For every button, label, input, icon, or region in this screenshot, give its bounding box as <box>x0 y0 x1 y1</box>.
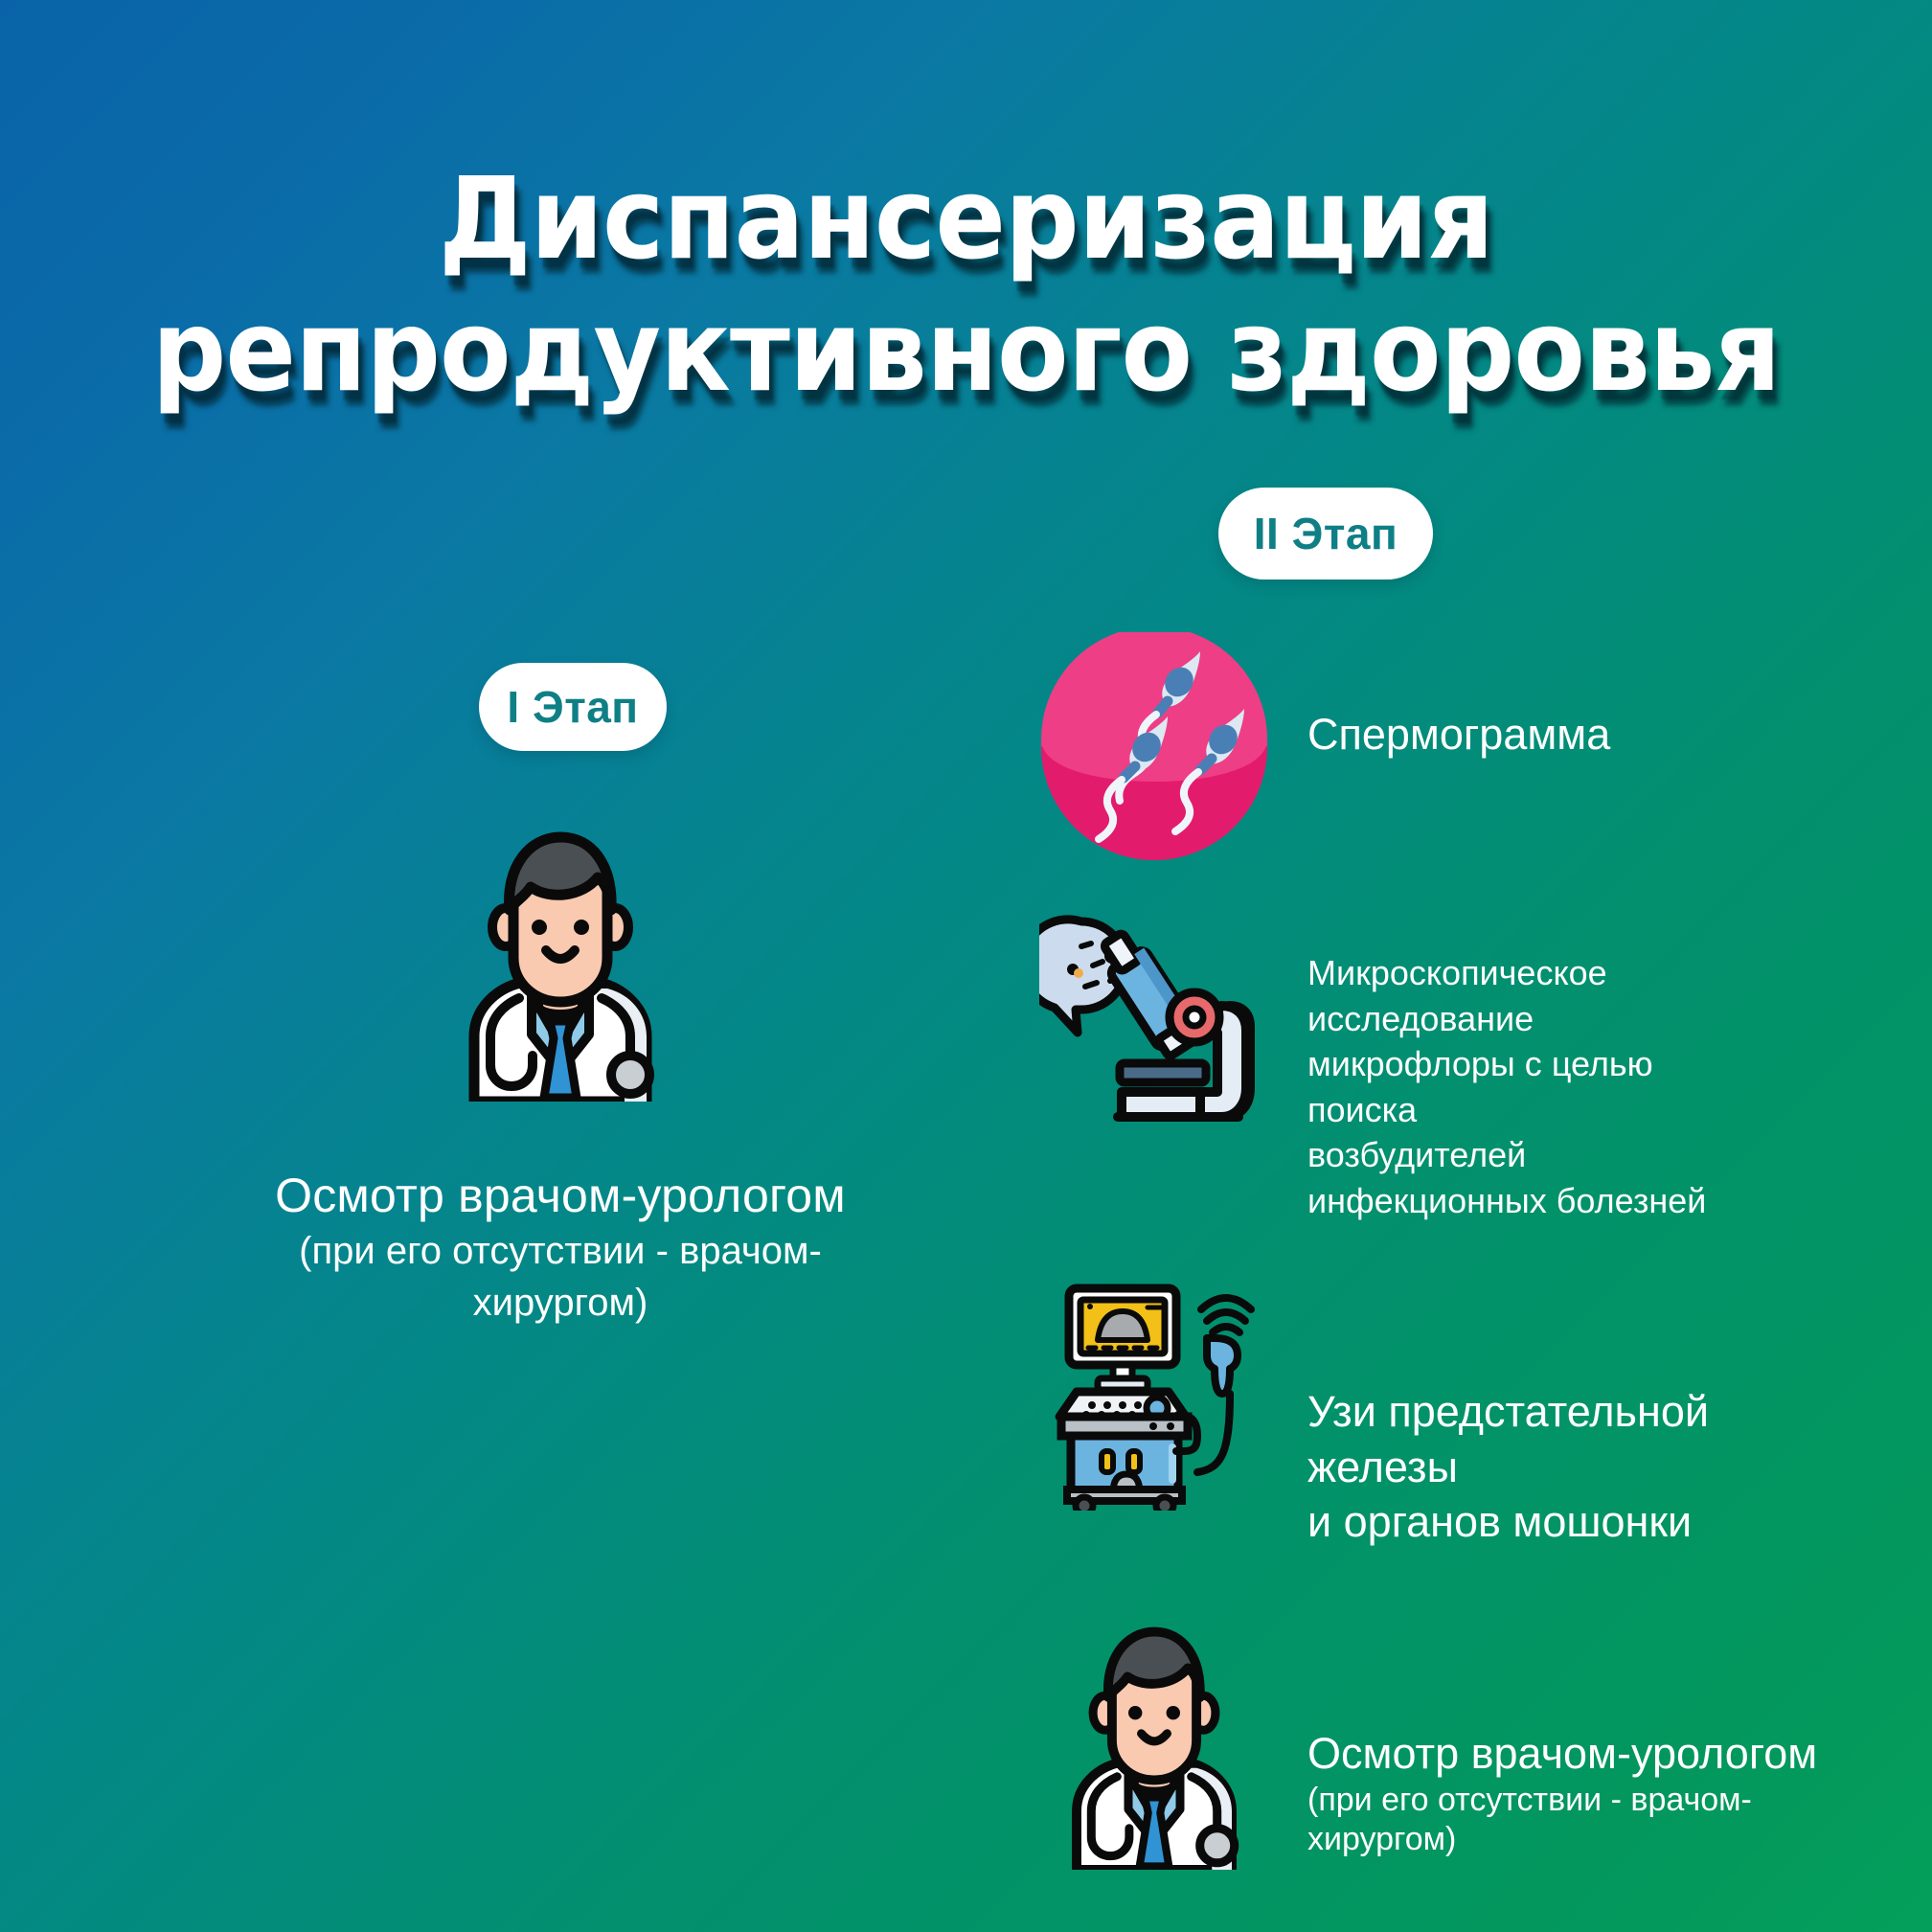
stage-2-column: Спермограмма <box>1011 632 1873 1870</box>
title-line-1: Диспансеризация <box>78 161 1855 276</box>
ultrasound-line-2: железы <box>1307 1440 1709 1495</box>
microscopy-line-5: возбудителей <box>1307 1132 1706 1178</box>
spermogram-icon <box>1039 632 1269 862</box>
microscopy-line-6: инфекционных болезней <box>1307 1178 1706 1224</box>
stage-2-item-ultrasound: Узи предстательной железы и органов мошо… <box>1011 1271 1873 1550</box>
poster-title: Диспансеризация репродуктивного здоровья <box>0 161 1932 409</box>
stage-1-caption-main: Осмотр врачом-урологом <box>220 1169 900 1222</box>
urologist-text-2: Осмотр врачом-урологом (при его отсутств… <box>1298 1611 1817 1859</box>
infographic-poster: Диспансеризация репродуктивного здоровья… <box>0 0 1932 1932</box>
stage-2-item-spermogram: Спермограмма <box>1011 632 1873 862</box>
microscopy-line-3: микрофлоры с целью <box>1307 1041 1706 1087</box>
stage-1-column: Осмотр врачом-урологом (при его отсутств… <box>220 814 900 1326</box>
stage-1-caption-sub-2: хирургом) <box>220 1280 900 1326</box>
microscopy-line-4: поиска <box>1307 1087 1706 1133</box>
stage-1-badge: I Этап <box>479 663 667 751</box>
ultrasound-line-3: и органов мошонки <box>1307 1494 1709 1550</box>
stage-2-item-urologist: Осмотр врачом-урологом (при его отсутств… <box>1011 1611 1873 1870</box>
spermogram-label: Спермограмма <box>1307 707 1610 762</box>
doctor-icon <box>450 814 671 1102</box>
urologist-label-2: Осмотр врачом-урологом <box>1307 1726 1817 1782</box>
doctor-icon <box>1054 1611 1255 1870</box>
stage-2-badge-label: II Этап <box>1254 508 1398 559</box>
urologist-sub-2-line-2: хирургом) <box>1307 1820 1817 1859</box>
microscope-icon-wrap <box>1011 912 1298 1132</box>
urologist-sub-2-line-1: (при его отсутствии - врачом- <box>1307 1781 1817 1820</box>
ultrasound-line-1: Узи предстательной <box>1307 1384 1709 1440</box>
ultrasound-icon-wrap <box>1011 1271 1298 1511</box>
ultrasound-text: Узи предстательной железы и органов мошо… <box>1298 1271 1709 1550</box>
microscope-icon <box>1039 912 1269 1132</box>
stage-1-badge-label: I Этап <box>507 681 638 733</box>
stage-1-caption: Осмотр врачом-урологом (при его отсутств… <box>220 1169 900 1326</box>
microscopy-text: Микроскопическое исследование микрофлоры… <box>1298 912 1706 1223</box>
stage-1-caption-sub-1: (при его отсутствии - врачом- <box>220 1228 900 1274</box>
microscopy-line-2: исследование <box>1307 996 1706 1042</box>
stage-2-item-microscopy: Микроскопическое исследование микрофлоры… <box>1011 912 1873 1223</box>
stage-1-icon-wrap <box>220 814 900 1102</box>
spermogram-text: Спермограмма <box>1298 632 1610 762</box>
spermogram-icon-wrap <box>1011 632 1298 862</box>
title-line-2: репродуктивного здоровья <box>78 293 1855 408</box>
stage-2-badge: II Этап <box>1218 488 1433 580</box>
microscopy-line-1: Микроскопическое <box>1307 950 1706 996</box>
doctor-icon-wrap-2 <box>1011 1611 1298 1870</box>
ultrasound-machine-icon <box>1034 1271 1274 1511</box>
